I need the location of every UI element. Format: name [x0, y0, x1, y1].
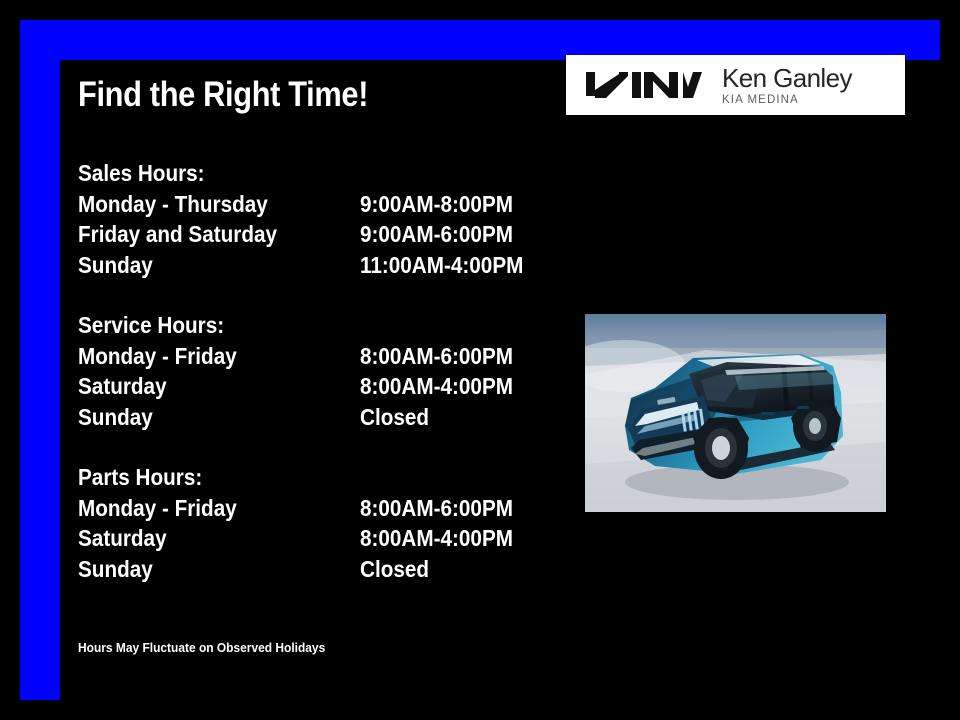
hours-row: Monday - Friday 8:00AM-6:00PM: [78, 493, 548, 524]
day-label: Monday - Thursday: [78, 189, 332, 220]
hours-row: Friday and Saturday 9:00AM-6:00PM: [78, 219, 548, 250]
hours-row: Sunday Closed: [78, 554, 548, 585]
group-heading-sales: Sales Hours:: [78, 158, 501, 189]
hours-group-parts: Parts Hours: Monday - Friday 8:00AM-6:00…: [78, 462, 548, 584]
day-label: Saturday: [78, 371, 332, 402]
hours-row: Sunday 11:00AM-4:00PM: [78, 250, 548, 281]
time-value: 11:00AM-4:00PM: [360, 250, 523, 281]
day-label: Monday - Friday: [78, 341, 332, 372]
group-heading-service: Service Hours:: [78, 310, 501, 341]
kia-logo-mark: [580, 70, 702, 100]
time-value: Closed: [360, 554, 429, 585]
day-label: Monday - Friday: [78, 493, 332, 524]
hours-group-service: Service Hours: Monday - Friday 8:00AM-6:…: [78, 310, 548, 432]
dealer-name-wrap: Ken Ganley KIA MEDINA: [722, 64, 852, 107]
time-value: 9:00AM-6:00PM: [360, 219, 513, 250]
time-value: 9:00AM-8:00PM: [360, 189, 513, 220]
dealer-logo-box: Ken Ganley KIA MEDINA: [566, 55, 905, 115]
hours-row: Saturday 8:00AM-4:00PM: [78, 371, 548, 402]
kia-ev9-suv-photo: [585, 314, 886, 512]
page-title: Find the Right Time!: [78, 76, 368, 115]
footer-disclaimer: Hours May Fluctuate on Observed Holidays: [78, 640, 325, 655]
day-label: Saturday: [78, 523, 332, 554]
hours-row: Sunday Closed: [78, 402, 548, 433]
hours-row: Monday - Friday 8:00AM-6:00PM: [78, 341, 548, 372]
day-label: Sunday: [78, 250, 332, 281]
hours-row: Saturday 8:00AM-4:00PM: [78, 523, 548, 554]
day-label: Friday and Saturday: [78, 219, 332, 250]
day-label: Sunday: [78, 402, 332, 433]
hours-group-sales: Sales Hours: Monday - Thursday 9:00AM-8:…: [78, 158, 548, 280]
time-value: 8:00AM-6:00PM: [360, 493, 513, 524]
dealer-sublabel: KIA MEDINA: [722, 93, 852, 107]
time-value: 8:00AM-4:00PM: [360, 371, 513, 402]
group-heading-parts: Parts Hours:: [78, 462, 501, 493]
presentation-slide: Find the Right Time! Sales Hours: Monday…: [0, 0, 960, 720]
dealer-name: Ken Ganley: [722, 64, 852, 92]
hours-row: Monday - Thursday 9:00AM-8:00PM: [78, 189, 548, 220]
day-label: Sunday: [78, 554, 332, 585]
time-value: 8:00AM-6:00PM: [360, 341, 513, 372]
time-value: 8:00AM-4:00PM: [360, 523, 513, 554]
hours-block: Sales Hours: Monday - Thursday 9:00AM-8:…: [78, 158, 548, 584]
time-value: Closed: [360, 402, 429, 433]
